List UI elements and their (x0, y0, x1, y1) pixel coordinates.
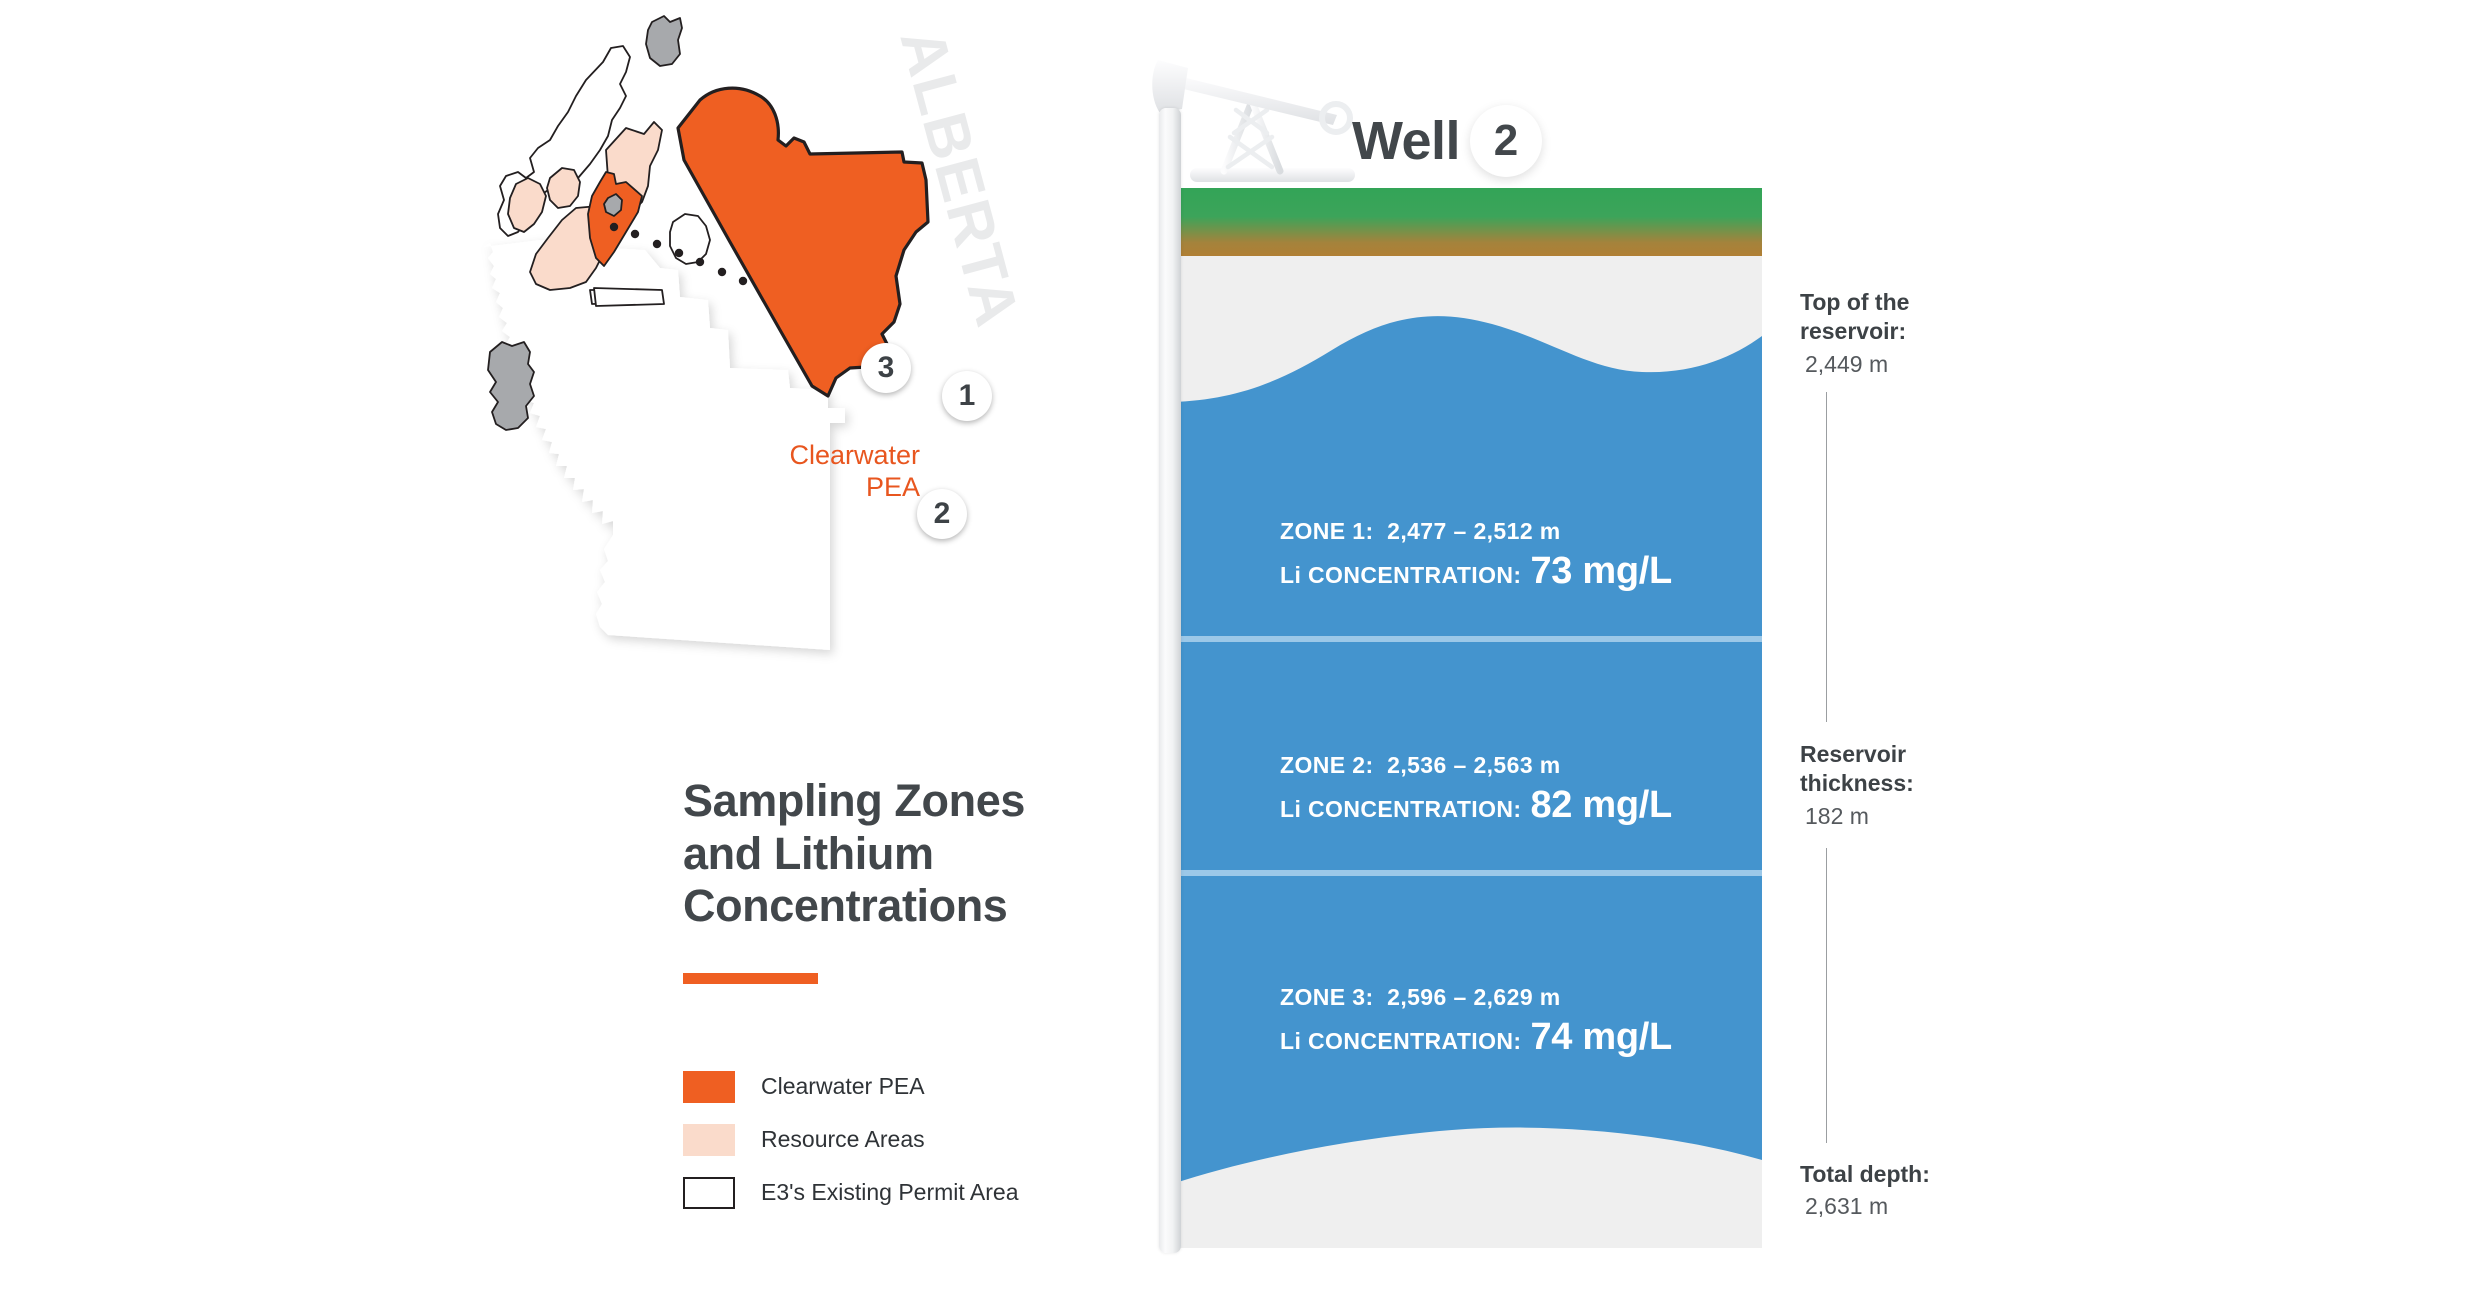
annotation-thickness-title-line1: Reservoir (1800, 741, 1906, 767)
map-badge-2[interactable]: 2 (917, 489, 967, 539)
legend-swatch-resource-areas (683, 1124, 735, 1156)
zone-3-concentration-label: Li CONCENTRATION: (1280, 1028, 1521, 1055)
well-number-label: 2 (1494, 116, 1518, 166)
leader-line-reservoir-bottom (1826, 848, 1827, 1143)
title-accent-rule (683, 973, 818, 984)
well-number-badge: 2 (1470, 105, 1542, 177)
zone-2-concentration-line: Li CONCENTRATION: 82 mg/L (1280, 784, 1672, 827)
zone-2-concentration-value: 82 mg/L (1530, 784, 1672, 827)
legend-item-clearwater-pea: Clearwater PEA (683, 1060, 1203, 1113)
title-block: Sampling Zones and Lithium Concentration… (683, 775, 1153, 984)
annotation-depth-title: Total depth: (1800, 1160, 2040, 1189)
zone-3-callout: ZONE 3: 2,596 – 2,629 m Li CONCENTRATION… (1280, 984, 1672, 1059)
alberta-map-graphic: ALBERTA (430, 0, 1190, 700)
zone-2-concentration-label: Li CONCENTRATION: (1280, 796, 1521, 823)
strata-column (1172, 188, 1762, 1248)
zone-divider-1-2 (1172, 636, 1762, 642)
clearwater-pea-map-label: Clearwater PEA (680, 440, 920, 504)
zone-divider-2-3 (1172, 870, 1762, 876)
annotation-total-depth: Total depth: 2,631 m (1800, 1160, 2040, 1222)
legend: Clearwater PEA Resource Areas E3's Exist… (683, 1060, 1203, 1219)
zone-3-concentration-value: 74 mg/L (1530, 1016, 1672, 1059)
annotation-thickness-title: Reservoir thickness: (1800, 740, 2040, 799)
page-title: Sampling Zones and Lithium Concentration… (683, 775, 1153, 933)
zone-2-name: ZONE 2: (1280, 752, 1374, 778)
annotation-thickness-title-line2: thickness: (1800, 770, 1914, 796)
well-title-group: Well 2 (1352, 105, 1542, 177)
zone-3-depth-range: 2,596 – 2,629 m (1387, 984, 1561, 1010)
legend-item-permit-area: E3's Existing Permit Area (683, 1166, 1203, 1219)
zone-1-name: ZONE 1: (1280, 518, 1374, 544)
annotation-thickness-value: 182 m (1800, 802, 2040, 831)
map-badge-1-label: 1 (959, 379, 976, 413)
map-panel: ALBERTA 3 1 2 Clearwater PEA (430, 0, 1190, 700)
page-title-line2: and Lithium (683, 828, 934, 879)
zone-3-depth-line: ZONE 3: 2,596 – 2,629 m (1280, 984, 1672, 1011)
zone-1-depth-line: ZONE 1: 2,477 – 2,512 m (1280, 518, 1672, 545)
leader-line-reservoir-top (1826, 392, 1827, 722)
annotation-top-title: Top of the reservoir: (1800, 288, 2040, 347)
legend-swatch-permit-area (683, 1177, 735, 1209)
well-title-text: Well (1352, 110, 1460, 172)
zone-3-concentration-line: Li CONCENTRATION: 74 mg/L (1280, 1016, 1672, 1059)
zone-1-depth-range: 2,477 – 2,512 m (1387, 518, 1561, 544)
zone-1-callout: ZONE 1: 2,477 – 2,512 m Li CONCENTRATION… (1280, 518, 1672, 593)
annotation-top-value: 2,449 m (1800, 350, 2040, 379)
annotation-depth-value: 2,631 m (1800, 1192, 2040, 1221)
annotation-depth-title-line1: Total depth: (1800, 1161, 1930, 1187)
wellbore-pipe (1159, 108, 1181, 1253)
strata-column-graphic (1172, 188, 1762, 1248)
legend-swatch-clearwater-pea (683, 1071, 735, 1103)
zone-2-callout: ZONE 2: 2,536 – 2,563 m Li CONCENTRATION… (1280, 752, 1672, 827)
zone-3-name: ZONE 3: (1280, 984, 1374, 1010)
soil-layer (1172, 188, 1762, 256)
map-badge-3[interactable]: 3 (861, 343, 911, 393)
annotation-reservoir-thickness: Reservoir thickness: 182 m (1800, 740, 2040, 831)
page-title-line1: Sampling Zones (683, 775, 1025, 826)
legend-label-permit-area: E3's Existing Permit Area (761, 1179, 1019, 1206)
zone-1-concentration-value: 73 mg/L (1530, 550, 1672, 593)
zone-1-concentration-line: Li CONCENTRATION: 73 mg/L (1280, 550, 1672, 593)
page-title-line3: Concentrations (683, 880, 1007, 931)
legend-label-resource-areas: Resource Areas (761, 1126, 925, 1153)
annotation-top-title-line2: reservoir: (1800, 318, 1906, 344)
pea-label-line1: Clearwater (680, 440, 920, 472)
annotation-top-title-line1: Top of the (1800, 289, 1909, 315)
legend-label-clearwater-pea: Clearwater PEA (761, 1073, 925, 1100)
map-badge-1[interactable]: 1 (942, 371, 992, 421)
zone-1-concentration-label: Li CONCENTRATION: (1280, 562, 1521, 589)
annotation-top-of-reservoir: Top of the reservoir: 2,449 m (1800, 288, 2040, 379)
map-badge-3-label: 3 (878, 351, 895, 385)
pea-label-line2: PEA (680, 472, 920, 504)
legend-item-resource-areas: Resource Areas (683, 1113, 1203, 1166)
map-badge-2-label: 2 (934, 497, 951, 531)
zone-2-depth-range: 2,536 – 2,563 m (1387, 752, 1561, 778)
infographic-canvas: ALBERTA 3 1 2 Clearwater PEA Sampling Zo… (0, 0, 2488, 1303)
zone-2-depth-line: ZONE 2: 2,536 – 2,563 m (1280, 752, 1672, 779)
